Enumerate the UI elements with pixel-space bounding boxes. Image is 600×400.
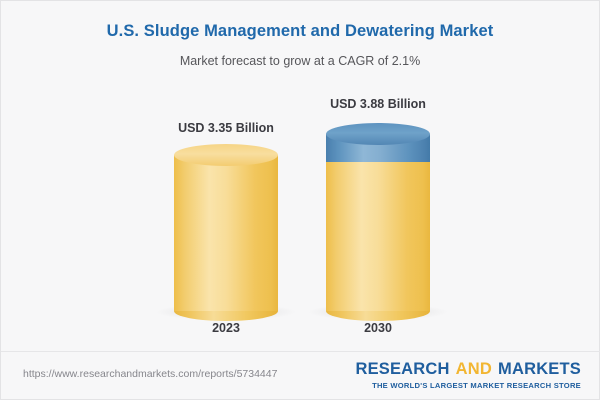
logo-wordmark: RESEARCHANDMARKETS <box>355 360 581 379</box>
source-url[interactable]: https://www.researchandmarkets.com/repor… <box>23 368 277 380</box>
chart-footer: https://www.researchandmarkets.com/repor… <box>1 351 600 399</box>
cylinder-top-ellipse <box>326 123 430 145</box>
chart-plot-area: USD 3.35 Billion 2023 USD 3.88 Billion 2… <box>1 1 600 351</box>
market-forecast-infographic: U.S. Sludge Management and Dewatering Ma… <box>0 0 600 400</box>
bar-value-label: USD 3.35 Billion <box>178 121 274 135</box>
category-label-2030: 2030 <box>364 321 392 335</box>
research-and-markets-logo[interactable]: RESEARCHANDMARKETS THE WORLD'S LARGEST M… <box>355 360 581 391</box>
bar-value-label: USD 3.88 Billion <box>330 97 426 111</box>
logo-tagline: THE WORLD'S LARGEST MARKET RESEARCH STOR… <box>355 381 581 391</box>
bar-group-2030: USD 3.88 Billion 2030 <box>326 1 430 351</box>
cylinder-top-ellipse <box>174 144 278 166</box>
cylinder-body-base <box>174 155 278 311</box>
logo-word-markets: MARKETS <box>498 360 581 378</box>
logo-word-research: RESEARCH <box>355 360 449 378</box>
cylinder-body-base <box>326 159 430 311</box>
category-label-2023: 2023 <box>212 321 240 335</box>
logo-word-and: AND <box>456 360 492 378</box>
bar-group-2023: USD 3.35 Billion 2023 <box>174 1 278 351</box>
